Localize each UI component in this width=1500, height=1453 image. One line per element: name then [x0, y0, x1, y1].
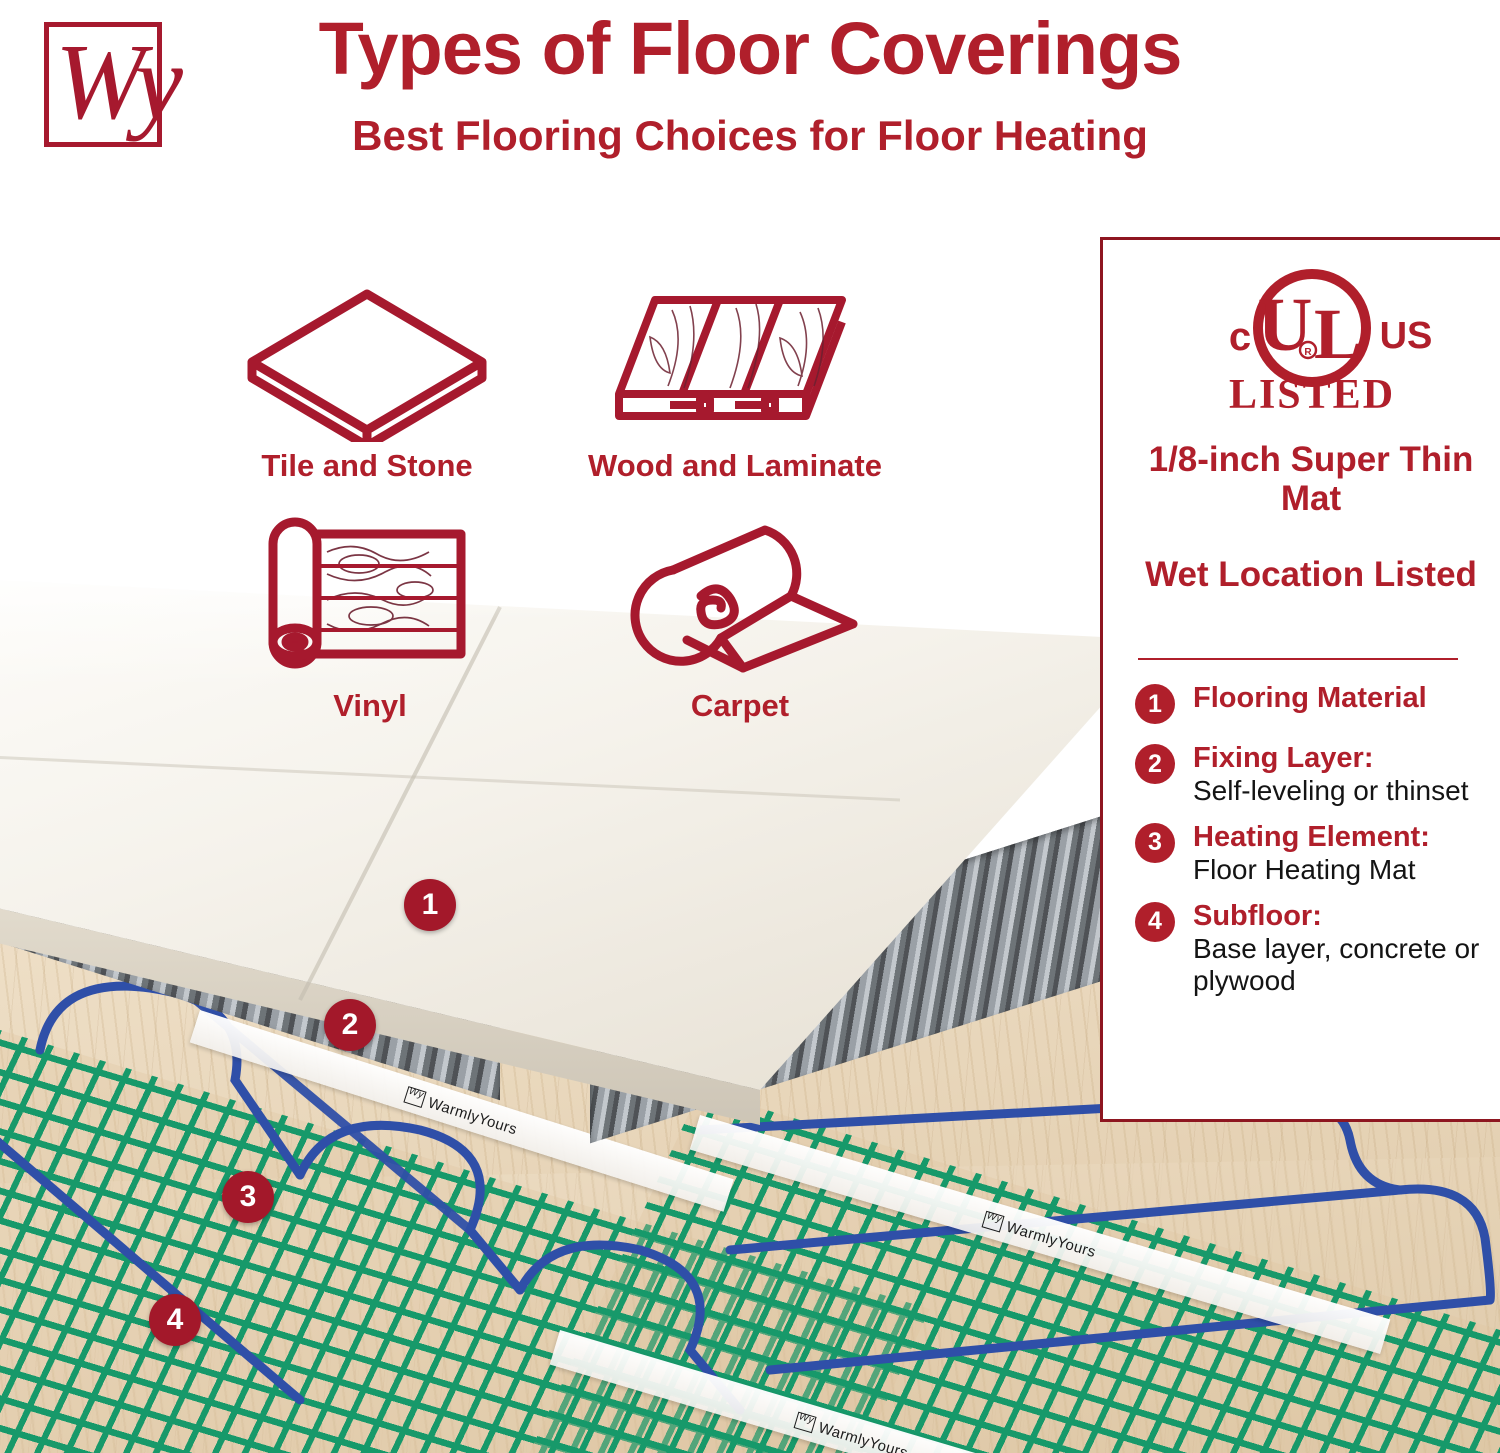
category-vinyl[interactable]: Vinyl — [245, 512, 495, 724]
svg-text:L: L — [1313, 294, 1361, 374]
legend-item-3: 3 Heating Element: Floor Heating Mat — [1135, 821, 1500, 886]
callout-badge-1: 1 — [404, 879, 456, 931]
ul-listed-mark: U L R c US LISTED — [1103, 266, 1500, 421]
category-tile-and-stone[interactable]: Tile and Stone — [232, 282, 502, 484]
category-wood-and-laminate[interactable]: Wood and Laminate — [565, 282, 905, 484]
plank-icon — [610, 282, 860, 442]
legend-number-2: 2 — [1135, 744, 1175, 784]
svg-text:US: US — [1379, 315, 1432, 357]
legend-item-2: 2 Fixing Layer: Self-leveling or thinset — [1135, 742, 1500, 807]
category-label: Vinyl — [245, 688, 495, 724]
category-label: Tile and Stone — [232, 448, 502, 484]
warmlyyours-tape-logo-icon — [982, 1211, 1005, 1233]
callout-badge-2: 2 — [324, 999, 376, 1051]
panel-divider — [1138, 658, 1458, 660]
category-carpet[interactable]: Carpet — [610, 512, 870, 724]
legend-heading-1: Flooring Material — [1193, 682, 1500, 715]
warmlyyours-tape-logo-icon — [794, 1412, 817, 1434]
panel-headline-1: 1/8-inch Super Thin Mat — [1131, 440, 1491, 518]
legend-heading-4: Subfloor: — [1193, 900, 1500, 933]
tile-icon — [242, 282, 492, 442]
callout-badge-3: 3 — [222, 1171, 274, 1223]
category-label: Wood and Laminate — [565, 448, 905, 484]
legend-item-1: 1 Flooring Material — [1135, 682, 1500, 728]
legend-number-1: 1 — [1135, 684, 1175, 724]
svg-text:c: c — [1228, 315, 1250, 359]
panel-headline-2: Wet Location Listed — [1131, 555, 1491, 594]
legend-desc-2: Self-leveling or thinset — [1193, 775, 1500, 807]
ul-logo-icon: U L R c US LISTED — [1162, 266, 1462, 416]
legend-desc-3: Floor Heating Mat — [1193, 854, 1500, 886]
legend-number-3: 3 — [1135, 823, 1175, 863]
category-label: Carpet — [610, 688, 870, 724]
ul-info-panel: U L R c US LISTED 1/8-inch Super Thin Ma… — [1100, 237, 1500, 1122]
callout-badge-4: 4 — [149, 1294, 201, 1346]
page-title: Types of Floor Coverings — [0, 6, 1500, 91]
carpet-roll-icon — [615, 512, 865, 682]
legend-item-4: 4 Subfloor: Base layer, concrete or plyw… — [1135, 900, 1500, 997]
svg-text:R: R — [1304, 347, 1312, 358]
svg-text:LISTED: LISTED — [1228, 372, 1394, 416]
legend-number-4: 4 — [1135, 902, 1175, 942]
page-subtitle: Best Flooring Choices for Floor Heating — [0, 112, 1500, 160]
legend-desc-4: Base layer, concrete or plywood — [1193, 933, 1500, 997]
legend-heading-2: Fixing Layer: — [1193, 742, 1500, 775]
layer-legend: 1 Flooring Material 2 Fixing Layer: Self… — [1135, 682, 1500, 1011]
vinyl-roll-icon — [255, 512, 485, 682]
legend-heading-3: Heating Element: — [1193, 821, 1500, 854]
infographic-canvas: WarmlyYours WarmlyYours WarmlyYours — [0, 0, 1500, 1453]
